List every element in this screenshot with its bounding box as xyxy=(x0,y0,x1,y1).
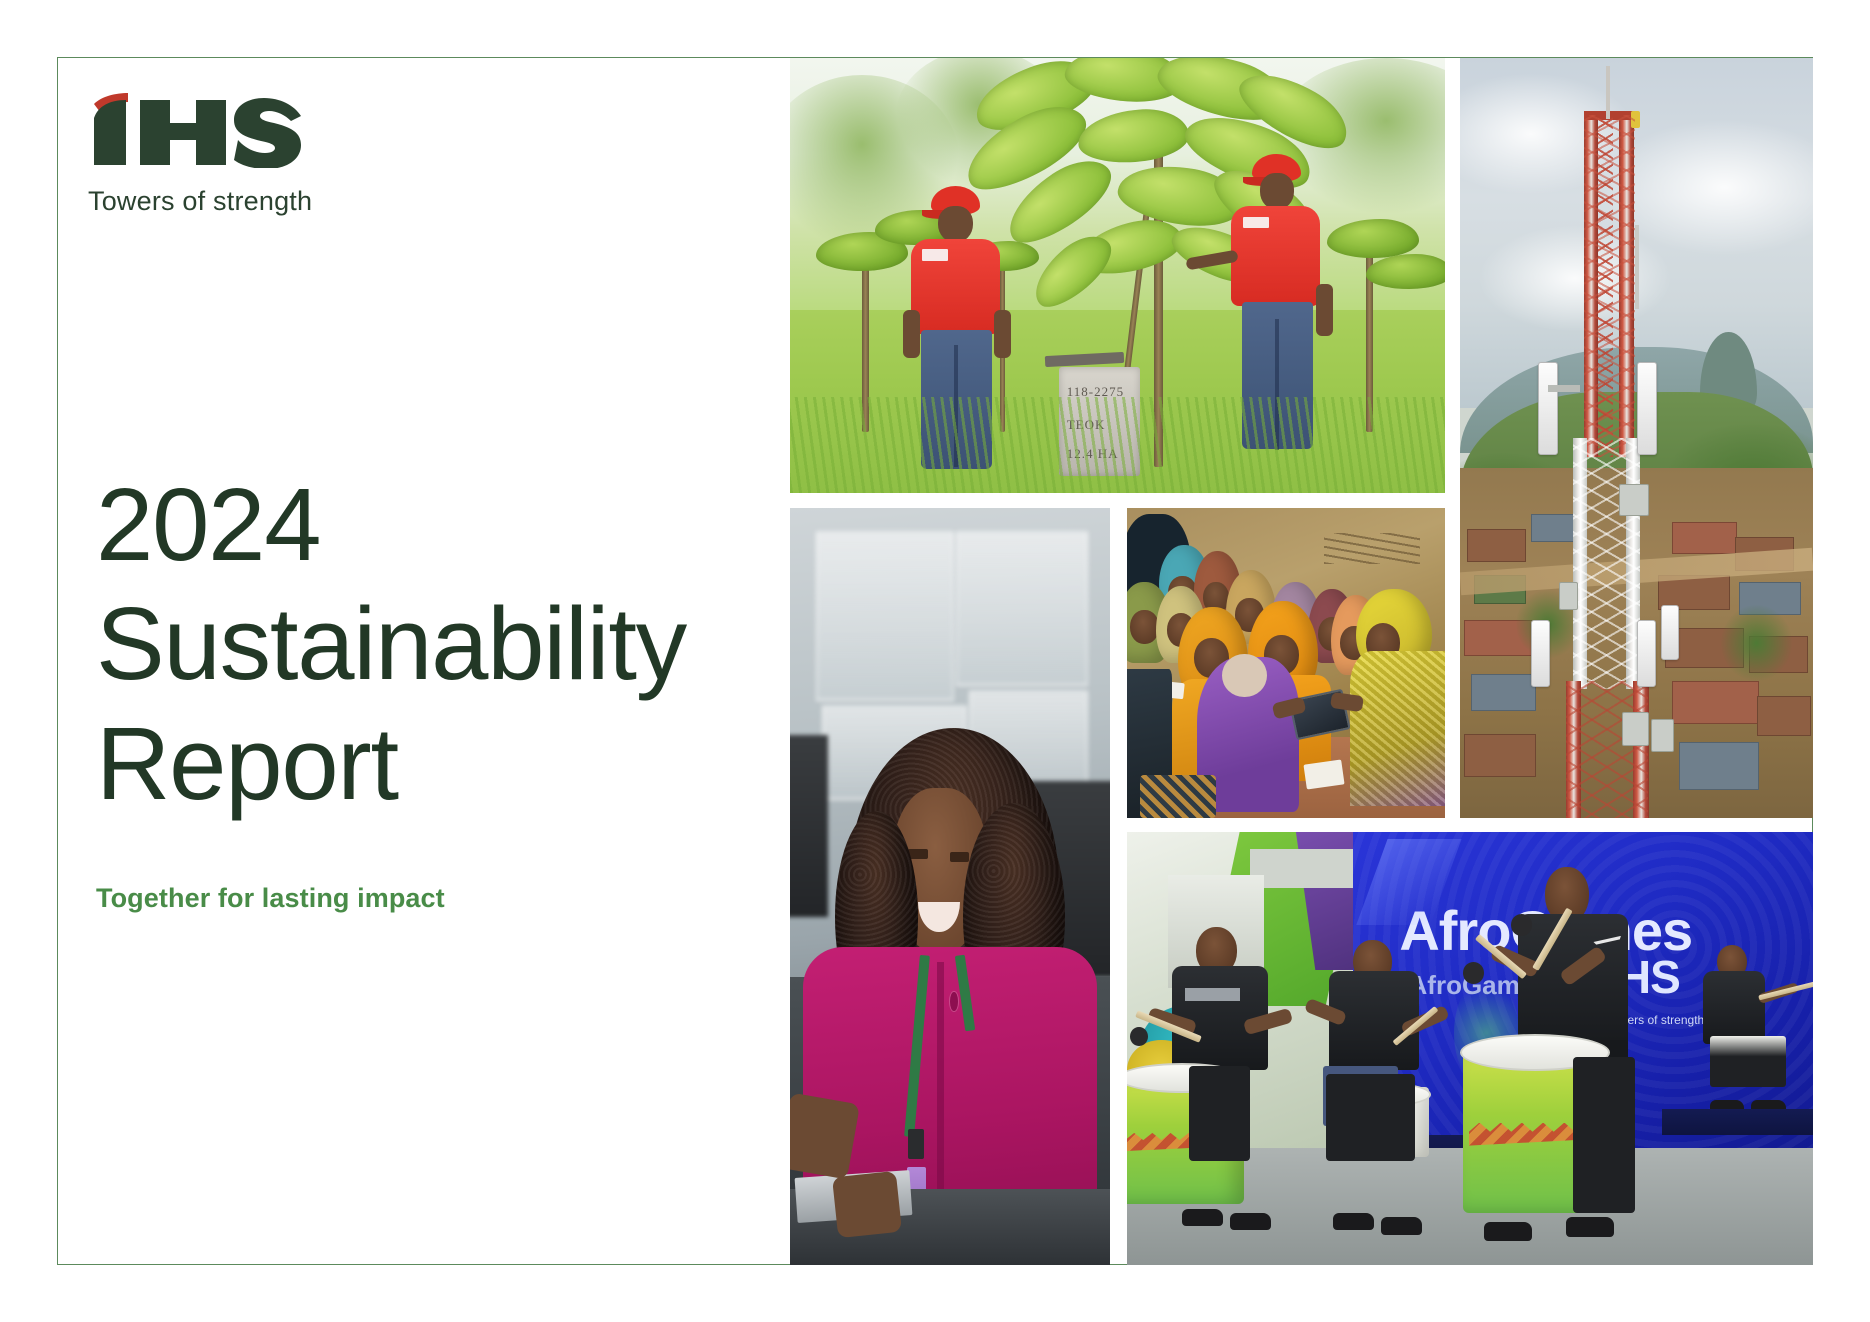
panel-antenna xyxy=(1531,620,1551,687)
title-line-report: Report xyxy=(96,704,776,823)
photo-digital-learning xyxy=(1127,508,1445,818)
ihs-wordmark-icon xyxy=(88,90,310,168)
photo-afrogames-drummers: AfroGames AfroGames IHS Towers of streng… xyxy=(1127,832,1813,1265)
page-title: 2024 Sustainability Report xyxy=(96,465,776,823)
cover-photo-collage: 118-2275 TEOK 12.4 HA xyxy=(790,58,1813,1265)
photo-telecom-tower xyxy=(1460,58,1813,818)
panel-antenna xyxy=(1637,620,1657,687)
title-line-year: 2024 xyxy=(96,465,776,584)
title-line-sustainability: Sustainability xyxy=(96,584,776,703)
panel-antenna xyxy=(1538,362,1558,455)
logo-tagline: Towers of strength xyxy=(88,186,508,217)
panel-antenna xyxy=(1661,605,1679,660)
page-subtitle: Together for lasting impact xyxy=(96,883,445,914)
photo-tree-planting: 118-2275 TEOK 12.4 HA xyxy=(790,58,1445,493)
brand-logo-block: Towers of strength xyxy=(88,90,508,217)
report-cover-page: Towers of strength 2024 Sustainability R… xyxy=(0,0,1870,1322)
panel-antenna xyxy=(1637,362,1657,455)
photo-office-employee xyxy=(790,508,1110,1265)
